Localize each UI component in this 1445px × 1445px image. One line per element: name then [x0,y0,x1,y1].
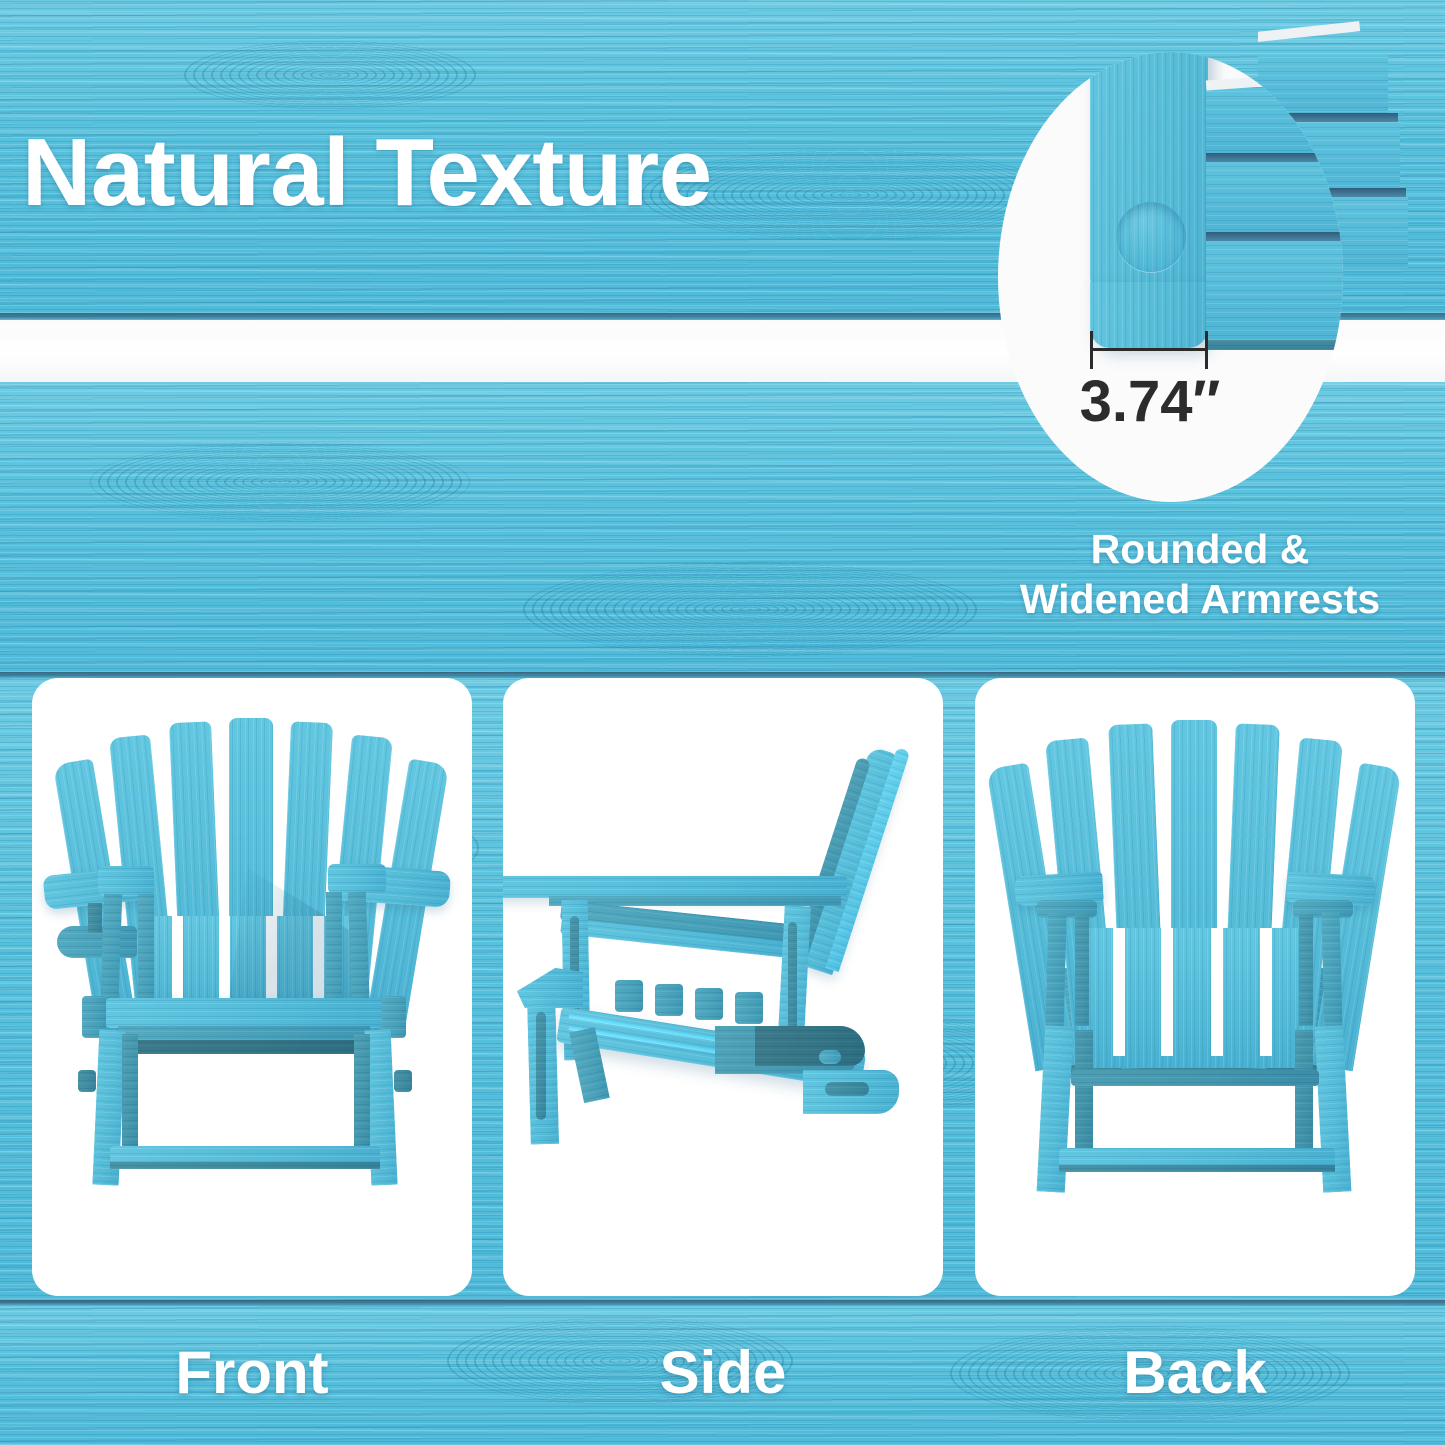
callout-caption-line-2: Widened Armrests [960,574,1440,624]
front-leg-rear-right [354,1034,370,1164]
back-gap-1 [1113,928,1125,1056]
back-arm-post-left-2 [1075,914,1089,1026]
front-armrest-left-inner [98,866,154,896]
callout-back-slat-1 [1206,87,1331,155]
back-leg-inner-right [1295,1030,1313,1160]
view-caption-side: Side [503,1338,943,1407]
back-arm-post-left [1045,912,1066,1032]
side-seat-slat-2 [655,984,683,1016]
callout-back-slat-3 [1206,240,1343,340]
side-rear-runner-dark [755,1026,865,1066]
armrest-slab-lower [1090,282,1208,348]
view-panel-side [503,678,943,1296]
front-armrest-right-inner [328,864,386,894]
chair-side-view-icon [503,678,943,1296]
back-upper-stretcher [1071,1070,1319,1086]
callout-back-slat-4 [1206,340,1338,350]
view-caption-front: Front [32,1338,472,1407]
dimension-value-label: 3.74″ [1070,368,1230,435]
dimension-tick-right [1205,331,1208,369]
callout-slat-gap-2 [1206,153,1343,162]
front-seat-shadow-band [118,1040,370,1054]
chair-front-view-icon [32,678,472,1296]
side-armrest-board [503,876,847,898]
armrest-callout-circle: 3.74″ [998,52,1343,502]
slat-gap-bleed-1 [1258,21,1360,43]
infographic-canvas: Natural Texture 3.74″ Rounded [0,0,1445,1445]
callout-caption: Rounded & Widened Armrests [960,524,1440,624]
front-leg-rear-left [122,1034,138,1164]
side-seat-slat-1 [615,980,643,1012]
side-seat-slat-3 [695,988,723,1020]
back-arm-post-right [1321,912,1342,1032]
back-leg-inner-left [1075,1030,1093,1160]
side-foot-slot [825,1082,869,1096]
back-gap-3 [1211,928,1223,1056]
callout-back-slat-2 [1206,162,1343,234]
cup-holder-hole-icon [1116,202,1186,272]
dimension-bar [1090,348,1208,351]
back-gap-2 [1161,928,1173,1056]
back-lower-stretcher-shadow [1059,1165,1335,1172]
view-panel-back [975,678,1415,1296]
back-gap-4 [1260,928,1272,1056]
front-hinge-left [78,1070,96,1092]
front-seat-edge [104,998,384,1028]
front-hinge-right [394,1070,412,1092]
callout-caption-line-1: Rounded & [960,524,1440,574]
view-caption-back: Back [975,1338,1415,1407]
front-bottom-stretcher-shadow [110,1162,380,1169]
front-cup-holder-post [88,903,102,933]
side-front-leg-slot [536,1012,546,1120]
view-panel-front [32,678,472,1296]
chair-back-view-icon [975,678,1415,1296]
page-title: Natural Texture [22,118,712,228]
callout-slat-gap-3 [1206,232,1343,241]
back-arm-post-right-2 [1299,914,1313,1026]
dimension-tick-left [1090,331,1093,369]
side-seat-slat-4 [735,992,763,1024]
side-foot-slot-2 [819,1050,841,1064]
side-rear-post-slot [788,922,797,1040]
